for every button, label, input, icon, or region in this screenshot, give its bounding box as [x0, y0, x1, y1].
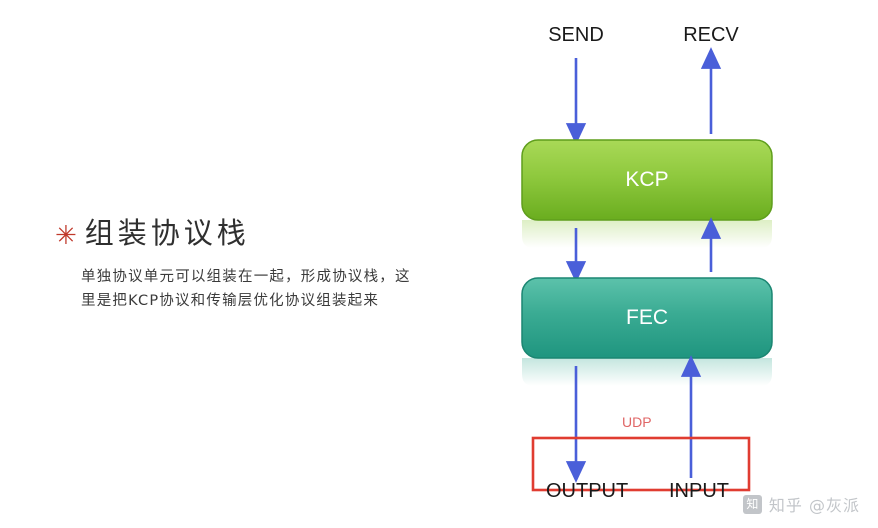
heading-row: ✳ 组装协议栈 — [55, 215, 435, 251]
slide-canvas: ✳ 组装协议栈 单独协议单元可以组装在一起，形成协议栈，这里是把KCP协议和传输… — [0, 0, 878, 528]
watermark: 知 知乎 @灰派 — [743, 492, 860, 516]
input-label: INPUT — [669, 480, 729, 503]
diagram-graphics — [500, 0, 878, 528]
send-label: SEND — [526, 24, 626, 47]
watermark-text: 知乎 @灰派 — [769, 492, 860, 516]
protocol-stack-diagram: SEND RECV KCP FEC UDP OUTPUT INPUT — [500, 0, 878, 528]
recv-label: RECV — [661, 24, 761, 47]
left-text-panel: ✳ 组装协议栈 单独协议单元可以组装在一起，形成协议栈，这里是把KCP协议和传输… — [55, 215, 435, 313]
section-body-text: 单独协议单元可以组装在一起，形成协议栈，这里是把KCP协议和传输层优化协议组装起… — [81, 265, 421, 313]
asterisk-icon: ✳ — [55, 223, 77, 249]
zhihu-logo-icon: 知 — [743, 495, 762, 514]
udp-label: UDP — [622, 414, 652, 430]
output-label: OUTPUT — [546, 480, 628, 503]
section-heading: 组装协议栈 — [85, 215, 250, 251]
